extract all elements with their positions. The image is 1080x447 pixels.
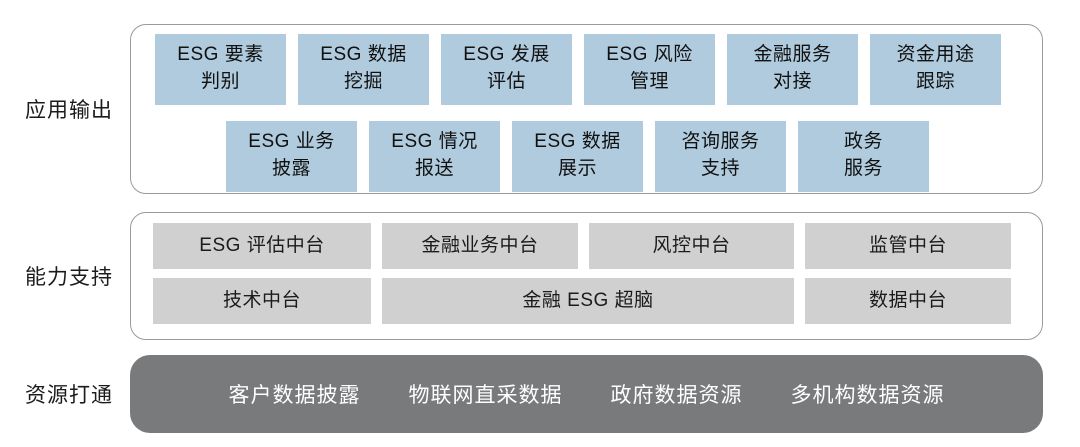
resource-item-customer-data-disclosure[interactable]: 客户数据披露 (229, 379, 361, 409)
app-chip-esg-status-reporting[interactable]: ESG 情况 报送 (369, 121, 500, 192)
tier-label-capability-support: 能力支持 (0, 261, 130, 291)
cap-bar-regulatory-platform[interactable]: 监管中台 (805, 223, 1011, 269)
app-chip-esg-data-display[interactable]: ESG 数据 展示 (512, 121, 643, 192)
app-chip-government-affairs-service[interactable]: 政务 服务 (798, 121, 929, 192)
app-chip-esg-data-mining[interactable]: ESG 数据 挖掘 (298, 34, 429, 105)
tier-capability-support: 能力支持 ESG 评估中台 金融业务中台 风控中台 监管中台 技术中台 金融 E… (0, 206, 1043, 346)
app-chip-esg-risk-management[interactable]: ESG 风险 管理 (584, 34, 715, 105)
application-output-row-1: ESG 要素 判别 ESG 数据 挖掘 ESG 发展 评估 ESG 风险 管理 … (155, 34, 1042, 105)
tier-application-output: 应用输出 ESG 要素 判别 ESG 数据 挖掘 ESG 发展 评估 ESG 风… (0, 12, 1043, 206)
cap-bar-technology-platform[interactable]: 技术中台 (153, 278, 371, 324)
cap-bar-risk-control-platform[interactable]: 风控中台 (589, 223, 794, 269)
cap-bar-financial-esg-superbrain[interactable]: 金融 ESG 超脑 (382, 278, 794, 324)
app-chip-esg-business-disclosure[interactable]: ESG 业务 披露 (226, 121, 357, 192)
capability-support-row-1: ESG 评估中台 金融业务中台 风控中台 监管中台 (153, 223, 1042, 269)
cap-bar-esg-assessment-platform[interactable]: ESG 评估中台 (153, 223, 371, 269)
architecture-diagram: 应用输出 ESG 要素 判别 ESG 数据 挖掘 ESG 发展 评估 ESG 风… (0, 0, 1080, 447)
tier-label-resource-integration: 资源打通 (0, 379, 130, 409)
resource-integration-bar: 客户数据披露 物联网直采数据 政府数据资源 多机构数据资源 (130, 355, 1043, 433)
capability-support-row-2: 技术中台 金融 ESG 超脑 数据中台 (153, 278, 1042, 324)
resource-item-multi-institution-data-resources[interactable]: 多机构数据资源 (791, 379, 945, 409)
resource-item-government-data-resources[interactable]: 政府数据资源 (611, 379, 743, 409)
cap-bar-financial-business-platform[interactable]: 金融业务中台 (382, 223, 578, 269)
tier-label-application-output: 应用输出 (0, 94, 130, 124)
panel-application-output: ESG 要素 判别 ESG 数据 挖掘 ESG 发展 评估 ESG 风险 管理 … (130, 24, 1043, 194)
cap-bar-data-platform[interactable]: 数据中台 (805, 278, 1011, 324)
app-chip-esg-development-assessment[interactable]: ESG 发展 评估 (441, 34, 572, 105)
app-chip-esg-element-identification[interactable]: ESG 要素 判别 (155, 34, 286, 105)
tier-resource-integration: 资源打通 客户数据披露 物联网直采数据 政府数据资源 多机构数据资源 (0, 349, 1043, 439)
app-chip-fund-usage-tracking[interactable]: 资金用途 跟踪 (870, 34, 1001, 105)
app-chip-consulting-service-support[interactable]: 咨询服务 支持 (655, 121, 786, 192)
app-chip-financial-service-docking[interactable]: 金融服务 对接 (727, 34, 858, 105)
resource-item-iot-direct-collection-data[interactable]: 物联网直采数据 (409, 379, 563, 409)
panel-capability-support: ESG 评估中台 金融业务中台 风控中台 监管中台 技术中台 金融 ESG 超脑… (130, 212, 1043, 340)
application-output-row-2: ESG 业务 披露 ESG 情况 报送 ESG 数据 展示 咨询服务 支持 政务… (226, 121, 1042, 192)
